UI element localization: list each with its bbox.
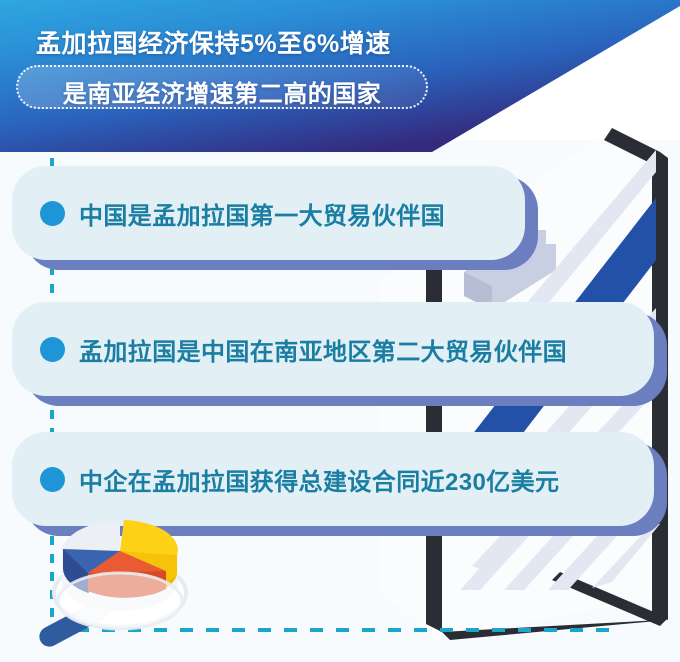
fact-card-2-text: 孟加拉国是中国在南亚地区第二大贸易伙伴国 <box>79 332 567 367</box>
fact-card-2[interactable]: 孟加拉国是中国在南亚地区第二大贸易伙伴国 <box>12 302 654 396</box>
bullet-dot-icon <box>40 201 65 226</box>
magnifier-pie-chart-icon <box>20 485 235 660</box>
bullet-dot-icon <box>40 337 65 362</box>
fact-card-1[interactable]: 中国是孟加拉国第一大贸易伙伴国 <box>12 166 525 260</box>
header-subtitle-text: 是南亚经济增速第二高的国家 <box>18 74 426 109</box>
infographic-root: 孟加拉国经济保持5%至6%增速 是南亚经济增速第二高的国家 中国是孟加拉国第一大… <box>0 0 680 662</box>
page-title: 孟加拉国经济保持5%至6%增速 <box>36 24 391 60</box>
header-subtitle-pill: 是南亚经济增速第二高的国家 <box>16 65 428 109</box>
fact-card-1-text: 中国是孟加拉国第一大贸易伙伴国 <box>79 196 445 231</box>
